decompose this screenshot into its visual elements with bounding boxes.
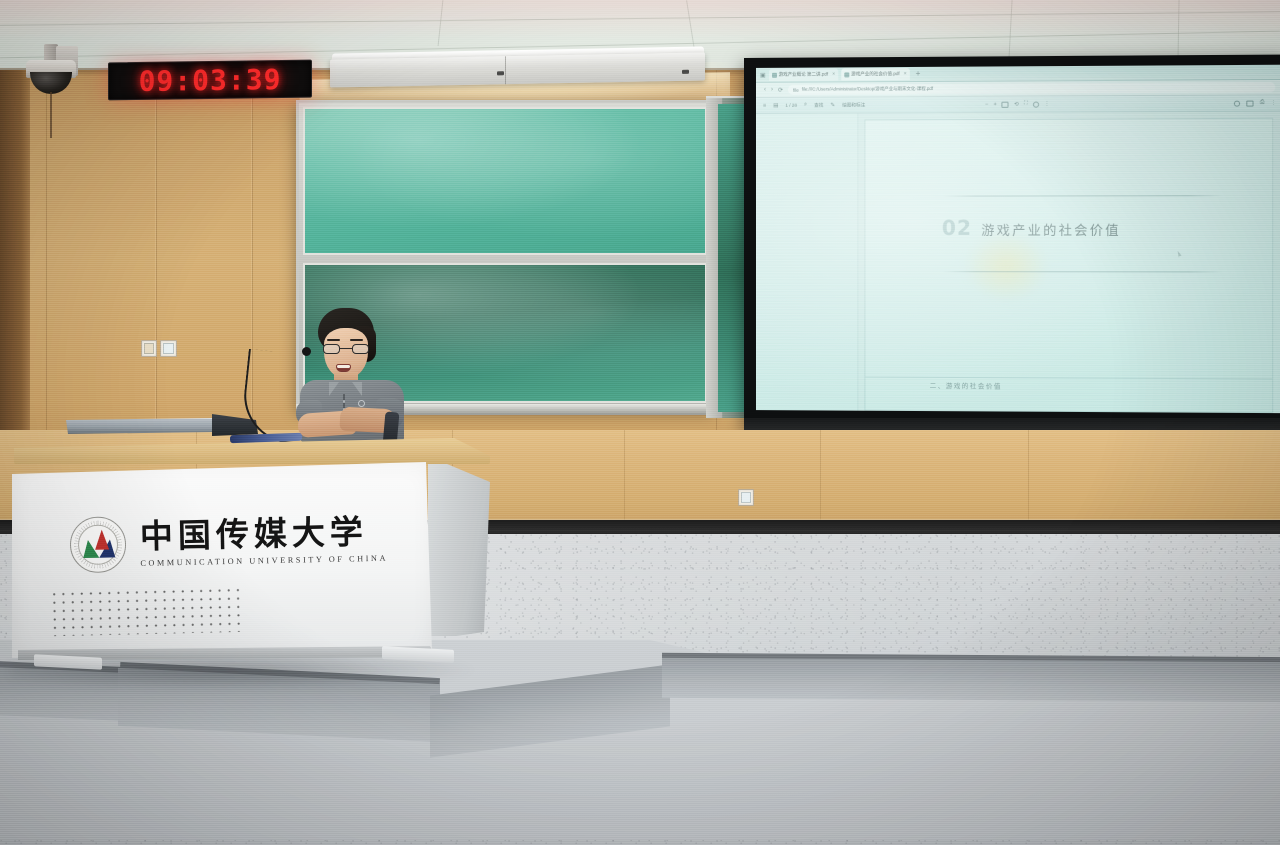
light-switch-a[interactable] [141, 340, 157, 357]
lectern-monitor[interactable] [66, 418, 214, 434]
presenter-glasses [323, 344, 369, 354]
projector-hotspot [962, 230, 1050, 303]
tab-close-icon[interactable]: × [832, 71, 835, 77]
camera-cable [50, 92, 52, 138]
cuc-seal-emblem [69, 516, 126, 573]
forward-icon[interactable]: › [771, 87, 773, 93]
projection-screen-frame: ▣ 游戏产业概论 第二讲.pdf × 游戏产业的社会价值.pdf × + ‹ ›… [744, 54, 1280, 429]
page-thumbnails-icon[interactable]: ▤ [773, 102, 778, 108]
pdf-slide: 02 游戏产业的社会价值 二、游戏的社会价值 [864, 118, 1273, 413]
print-icon[interactable]: ⎙ [1260, 99, 1265, 106]
tools-label: 绘图和标注 [842, 102, 865, 108]
fit-page-icon[interactable] [1002, 101, 1009, 107]
presenter [296, 308, 408, 440]
search-icon[interactable] [1033, 101, 1039, 107]
chalkboard-side-section [706, 96, 746, 418]
slide-footer-text: 二、游戏的社会价值 [930, 380, 1002, 390]
university-name-en: COMMUNICATION UNIVERSITY OF CHINA [140, 554, 388, 568]
account-avatar[interactable] [1234, 100, 1240, 106]
shirt-logo [358, 400, 365, 407]
slide-heading: 游戏产业的社会价值 [981, 220, 1121, 239]
pdf-page-area: 02 游戏产业的社会价值 二、游戏的社会价值 [858, 112, 1280, 414]
sidebar-toggle-icon[interactable]: ≡ [763, 102, 766, 108]
menu-icon[interactable]: ⋮ [1271, 100, 1277, 106]
university-name-cn: 中国传媒大学 [140, 515, 388, 553]
chalkboard-upper-panel [303, 107, 707, 255]
slide-section-number: 02 [942, 216, 972, 240]
url-text: file:///C:/Users/Administrator/Desktop/游… [802, 86, 933, 93]
lectern-front-panel: 中国传媒大学 COMMUNICATION UNIVERSITY OF CHINA [12, 462, 432, 658]
url-scheme: file [793, 87, 799, 92]
lecture-hall-photo: ▣ 游戏产业概论 第二讲.pdf × 游戏产业的社会价值.pdf × + ‹ ›… [0, 0, 1280, 845]
wall-outlet-center[interactable] [738, 489, 754, 506]
page-break-line [865, 377, 1272, 380]
present-icon[interactable]: ⛶ [1024, 101, 1028, 108]
download-icon[interactable] [1246, 100, 1253, 106]
clock-time-display: 09:03:39 [139, 63, 282, 98]
new-tab-icon[interactable]: + [916, 70, 921, 78]
slide-title-group: 02 游戏产业的社会价值 [942, 216, 1121, 240]
projection-screen: ▣ 游戏产业概论 第二讲.pdf × 游戏产业的社会价值.pdf × + ‹ ›… [756, 65, 1280, 413]
seal-triangle-red [95, 530, 109, 550]
find-label: 查找 [814, 102, 823, 108]
tab-1-label: 游戏产业概论 第二讲.pdf [779, 72, 828, 78]
mouse-cursor [1178, 251, 1182, 258]
more-tools-icon[interactable]: ⋮ [1044, 101, 1050, 107]
rotate-icon[interactable]: ⟲ [1014, 101, 1019, 107]
light-switch-b[interactable] [160, 340, 177, 357]
lectern: 中国传媒大学 COMMUNICATION UNIVERSITY OF CHINA [4, 438, 490, 658]
slide-rule-top [942, 195, 1223, 196]
lectern-speaker-grille [50, 586, 247, 636]
led-wall-clock: 09:03:39 [108, 60, 312, 101]
university-branding: 中国传媒大学 COMMUNICATION UNIVERSITY OF CHINA [69, 511, 388, 574]
browser-tab-1[interactable]: 游戏产业概论 第二讲.pdf × [769, 68, 838, 80]
tab-favicon [772, 72, 777, 77]
annotate-icon[interactable]: ✎ [830, 102, 835, 108]
lectern-side-panel [428, 454, 490, 636]
page-indicator: 1 / 28 [785, 103, 797, 108]
zoom-out-icon[interactable]: − [985, 101, 988, 107]
tab-favicon [844, 72, 849, 77]
reload-icon[interactable]: ⟳ [778, 86, 783, 93]
tab-2-label: 游戏产业的社会价值.pdf [851, 71, 899, 77]
back-icon[interactable]: ‹ [764, 87, 766, 93]
zoom-in-icon[interactable]: + [993, 101, 996, 107]
browser-tab-2[interactable]: 游戏产业的社会价值.pdf × [841, 68, 910, 80]
presenter-mouth [336, 364, 351, 372]
pdf-thumbnail-sidebar[interactable] [756, 113, 858, 410]
find-icon[interactable]: ⌕ [804, 102, 807, 109]
tab-close-icon[interactable]: × [904, 71, 907, 77]
url-input[interactable]: file file:///C:/Users/Administrator/Desk… [788, 82, 1275, 95]
window-menu-icon[interactable]: ▣ [760, 71, 766, 78]
